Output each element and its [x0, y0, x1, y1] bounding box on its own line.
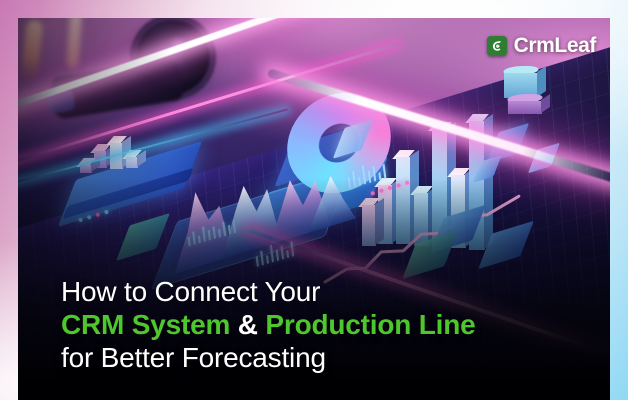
headline-block: How to Connect Your CRM System & Product…	[61, 275, 570, 374]
headline-line-2: CRM System & Production Line	[61, 308, 570, 341]
brand-name: CrmLeaf	[514, 34, 596, 58]
brand-logo[interactable]: CrmLeaf	[487, 34, 596, 58]
image-frame: CrmLeaf How to Connect Your CRM System &…	[0, 0, 628, 400]
headline-accent-2: Production Line	[265, 309, 475, 340]
headline-line-1: How to Connect Your	[61, 275, 570, 308]
headline-accent-1: CRM System	[61, 309, 230, 340]
cylinder-stack-2	[508, 94, 542, 114]
headline-ampersand: &	[238, 309, 258, 340]
leaf-c-icon	[487, 36, 507, 56]
headline-line-3: for Better Forecasting	[61, 341, 570, 374]
banner-panel: CrmLeaf How to Connect Your CRM System &…	[18, 18, 610, 400]
